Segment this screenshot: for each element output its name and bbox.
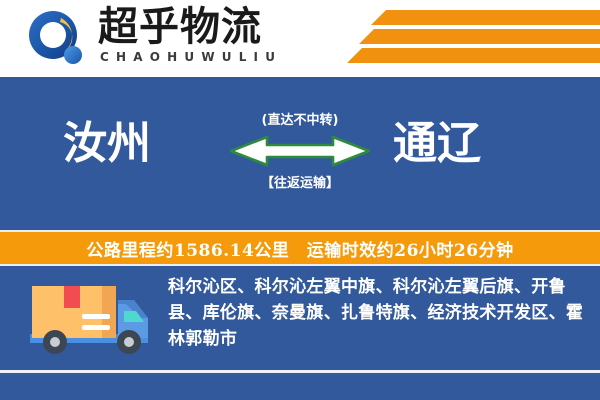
info-bar-group: 公路里程约1586.14公里 运输时效约26小时26分钟: [0, 230, 600, 266]
direct-route-label: (直达不中转): [225, 112, 375, 130]
delivery-truck-icon: [22, 278, 156, 360]
brand-name-cn: 超乎物流: [98, 5, 262, 49]
q-circle-logo-icon: [27, 9, 89, 69]
brand-name-en: CHAOHUWULIU: [100, 50, 282, 64]
route-arrow-group: (直达不中转) 【往返运输】: [225, 112, 375, 212]
logistics-route-poster: 超乎物流 CHAOHUWULIU 汝州 通辽 (直达不中转) 【往返运输】 公路…: [0, 0, 600, 400]
speed-stripes-icon: [330, 0, 600, 77]
coverage-panel: 科尔沁区、科尔沁左翼中旗、科尔沁左翼后旗、开鲁县、库伦旗、奈曼旗、扎鲁特旗、经济…: [0, 266, 600, 370]
coverage-districts-text: 科尔沁区、科尔沁左翼中旗、科尔沁左翼后旗、开鲁县、库伦旗、奈曼旗、扎鲁特旗、经济…: [168, 274, 586, 352]
origin-city: 汝州: [63, 118, 151, 170]
double-headed-arrow-icon: [225, 134, 375, 172]
round-trip-label: 【往返运输】: [225, 175, 375, 193]
distance-duration-text: 公路里程约1586.14公里 运输时效约26小时26分钟: [86, 236, 513, 261]
destination-city: 通辽: [393, 118, 481, 170]
footer-area: [0, 373, 600, 400]
header-bar: 超乎物流 CHAOHUWULIU: [0, 0, 600, 77]
info-bar: 公路里程约1586.14公里 运输时效约26小时26分钟: [0, 232, 600, 264]
